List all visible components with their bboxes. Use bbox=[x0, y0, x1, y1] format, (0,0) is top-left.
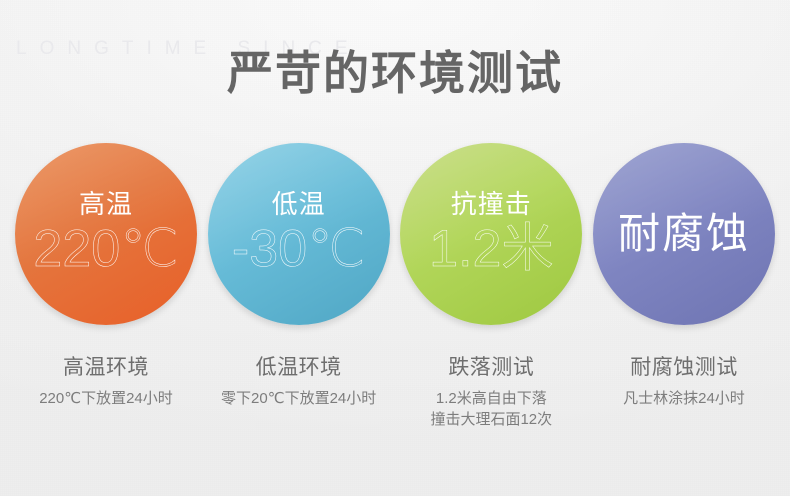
circle-value: -30℃ bbox=[232, 220, 366, 278]
caption-line-1: 凡士林涂抹24小时 bbox=[623, 388, 745, 409]
page-title: 严苛的环境测试 bbox=[0, 46, 790, 100]
caption-title: 低温环境 bbox=[221, 355, 376, 381]
caption-title: 跌落测试 bbox=[430, 355, 552, 381]
feature-cards-row: 高温 220℃ 高温环境 220℃下放置24小时 低温 -30℃ 低温环境 零下… bbox=[0, 143, 790, 430]
feature-card-corrosion-resistance: 耐腐蚀 耐腐蚀测试 凡士林涂抹24小时 bbox=[593, 143, 775, 430]
circle-impact-resistance: 抗撞击 1.2米 bbox=[400, 143, 582, 325]
circle-label: 高温 bbox=[79, 190, 133, 218]
circle-low-temperature: 低温 -30℃ bbox=[208, 143, 390, 325]
circle-label: 低温 bbox=[272, 190, 326, 218]
caption-low-temperature: 低温环境 零下20℃下放置24小时 bbox=[221, 355, 376, 409]
promo-banner: LONGTIME SINCE 严苛的环境测试 高温 220℃ 高温环境 220℃… bbox=[0, 0, 790, 496]
caption-title: 耐腐蚀测试 bbox=[623, 355, 745, 381]
feature-card-high-temperature: 高温 220℃ 高温环境 220℃下放置24小时 bbox=[15, 143, 197, 430]
caption-drop-test: 跌落测试 1.2米高自由下落 撞击大理石面12次 bbox=[430, 355, 552, 430]
circle-value: 220℃ bbox=[33, 220, 178, 278]
feature-card-low-temperature: 低温 -30℃ 低温环境 零下20℃下放置24小时 bbox=[208, 143, 390, 430]
feature-card-drop-test: 抗撞击 1.2米 跌落测试 1.2米高自由下落 撞击大理石面12次 bbox=[400, 143, 582, 430]
circle-label: 耐腐蚀 bbox=[618, 210, 750, 258]
circle-label: 抗撞击 bbox=[451, 190, 532, 218]
circle-value: 1.2米 bbox=[429, 220, 553, 278]
circle-high-temperature: 高温 220℃ bbox=[15, 143, 197, 325]
caption-line-1: 1.2米高自由下落 bbox=[430, 388, 552, 409]
caption-line-2: 撞击大理石面12次 bbox=[430, 409, 552, 430]
caption-high-temperature: 高温环境 220℃下放置24小时 bbox=[39, 355, 173, 409]
caption-line-1: 220℃下放置24小时 bbox=[39, 388, 173, 409]
circle-corrosion-resistance: 耐腐蚀 bbox=[593, 143, 775, 325]
caption-line-1: 零下20℃下放置24小时 bbox=[221, 388, 376, 409]
caption-corrosion-resistance: 耐腐蚀测试 凡士林涂抹24小时 bbox=[623, 355, 745, 409]
caption-title: 高温环境 bbox=[39, 355, 173, 381]
